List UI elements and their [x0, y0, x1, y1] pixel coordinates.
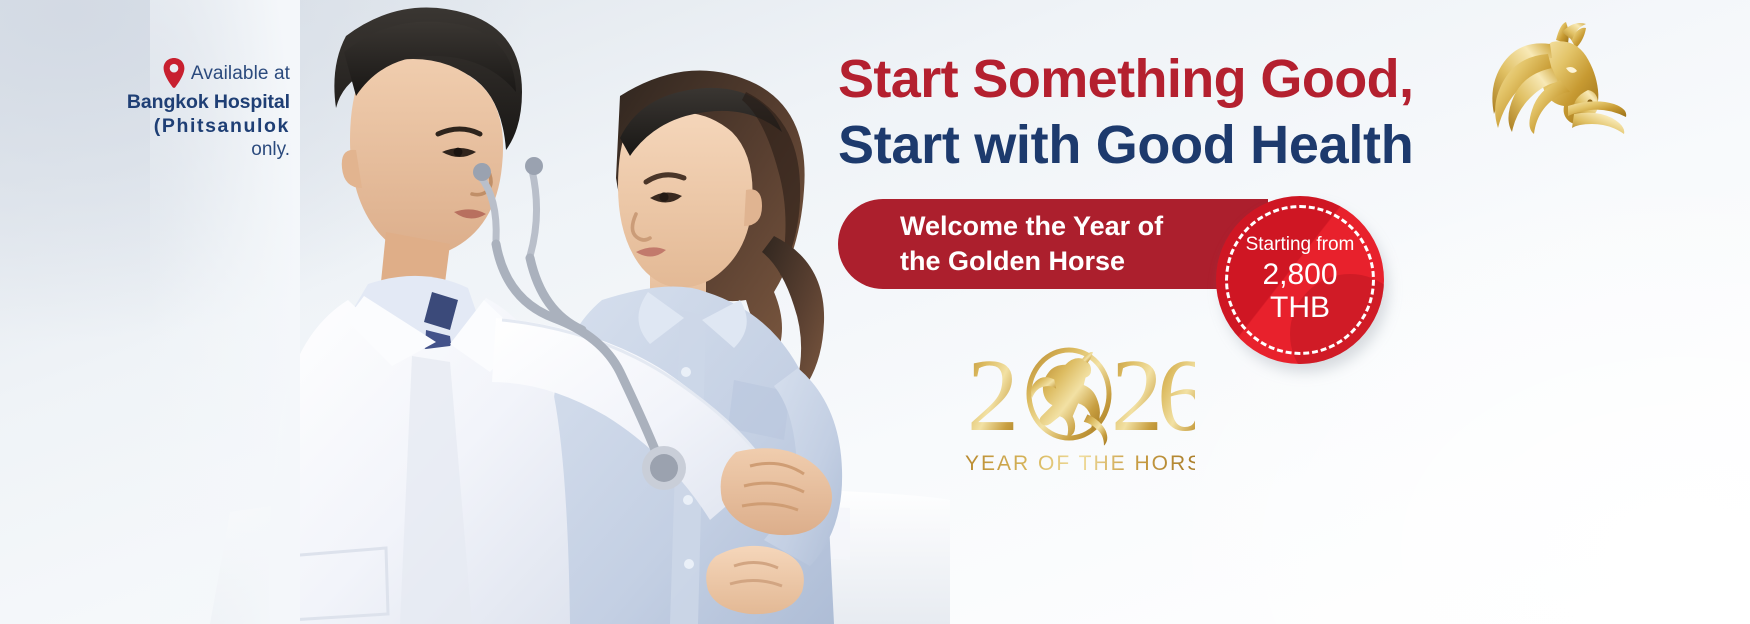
- location-branch-name: (Phitsanulok: [58, 115, 290, 138]
- headline-line-1: Start Something Good,: [838, 52, 1413, 106]
- pill-line-1: Welcome the Year of: [900, 209, 1268, 244]
- year-logo-caption: YEAR OF THE HORSE: [965, 452, 1195, 476]
- headline-line-2: Start with Good Health: [838, 118, 1413, 172]
- year-digit-2-first: 2: [967, 338, 1019, 452]
- map-pin-icon: [163, 58, 185, 88]
- year-digit-2-second: 2: [1111, 338, 1163, 452]
- location-hospital-name: Bangkok Hospital: [58, 91, 290, 114]
- year-digit-6: 6: [1157, 338, 1195, 452]
- sticker-starting-from-label: Starting from: [1246, 235, 1355, 256]
- location-only-note: only.: [58, 139, 290, 161]
- sticker-text-group: Starting from 2,800 THB: [1216, 196, 1384, 364]
- location-availability-badge: Available at Bangkok Hospital (Phitsanul…: [58, 58, 290, 161]
- pill-line-2: the Golden Horse: [900, 244, 1268, 279]
- location-line-available: Available at: [191, 63, 290, 85]
- promo-pill-banner: Welcome the Year of the Golden Horse: [838, 199, 1268, 289]
- sticker-currency: THB: [1270, 292, 1330, 324]
- year-2026-horse-logo: 2 2 6: [965, 332, 1195, 452]
- golden-horse-head-icon: [1478, 18, 1628, 136]
- price-sticker-badge: Starting from 2,800 THB: [1216, 196, 1396, 376]
- sticker-price-amount: 2,800: [1262, 259, 1337, 291]
- promotional-banner: Available at Bangkok Hospital (Phitsanul…: [0, 0, 1750, 624]
